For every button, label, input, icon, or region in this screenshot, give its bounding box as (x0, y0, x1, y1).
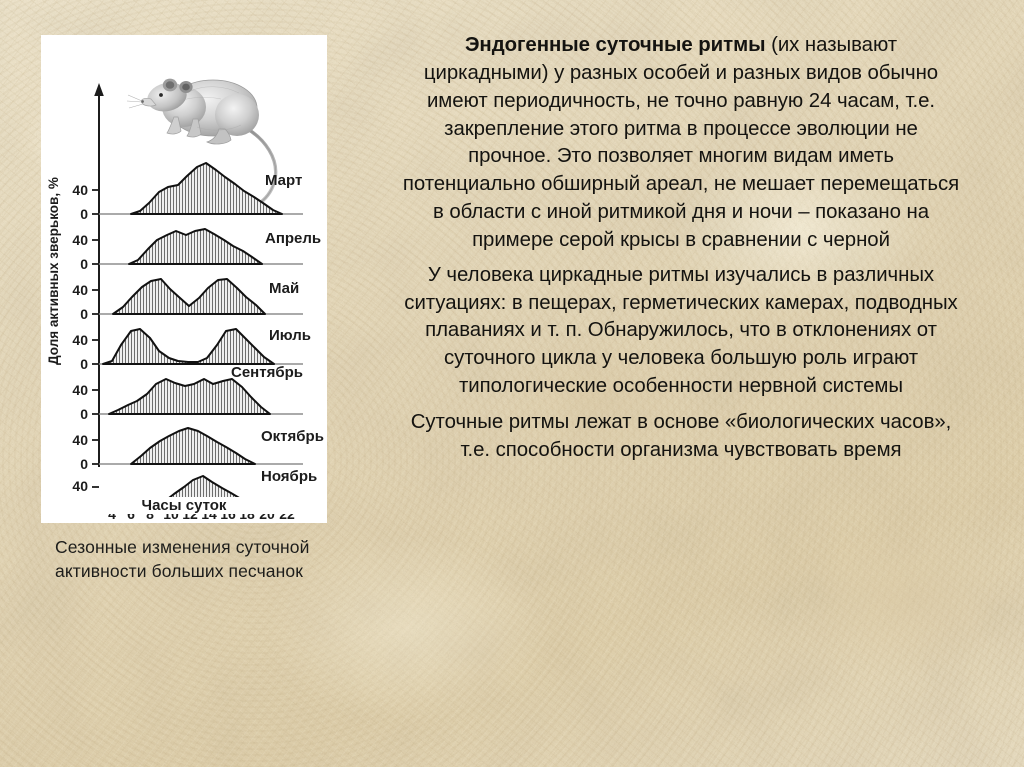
body-text: Эндогенные суточные ритмы (их называют ц… (344, 32, 1018, 471)
paragraph-3: Суточные ритмы лежат в основе «биологиче… (344, 409, 1018, 465)
y-tick-0-september: 0 (80, 406, 88, 422)
paragraph-1-line-6: потенциально обширный ареал, не мешает п… (344, 171, 1018, 199)
paragraph-1-line-5: прочное. Это позволяет многим видам имет… (344, 143, 1018, 171)
paragraph-2-line-2: ситуациях: в пещерах, герметических каме… (344, 290, 1018, 318)
paragraph-3-line-1: Суточные ритмы лежат в основе «биологиче… (344, 409, 1018, 437)
x-axis-title: Часы суток (41, 497, 327, 514)
series-label-april: Апрель (265, 230, 321, 247)
series-label-september: Сентябрь (231, 364, 303, 381)
series-label-october: Октябрь (261, 428, 324, 445)
series-label-march: Март (265, 172, 302, 189)
y-tick-0-april: 0 (80, 256, 88, 272)
paragraph-2-line-1: У человека циркадные ритмы изучались в р… (344, 262, 1018, 290)
y-tick-40-april: 40 (72, 232, 88, 248)
paragraph-3-line-2: т.е. способности организма чувствовать в… (344, 437, 1018, 465)
y-tick-40-march: 40 (72, 182, 88, 198)
paragraph-1-line-7: в области с иной ритмикой дня и ночи – п… (344, 199, 1018, 227)
paragraph-2: У человека циркадные ритмы изучались в р… (344, 262, 1018, 401)
seasonal-activity-chart: Доля активных зверьков, % 0 40 Март (41, 35, 327, 523)
paragraph-2-line-3: плаваниях и т. п. Обнаружилось, что в от… (344, 317, 1018, 345)
paragraph-2-line-5: типологические особенности нервной систе… (344, 373, 1018, 401)
figure-panel: Доля активных зверьков, % 0 40 Март (41, 35, 327, 523)
y-tick-0-october: 0 (80, 456, 88, 472)
paragraph-1-line-4: закрепление этого ритма в процессе эволю… (344, 116, 1018, 144)
paragraph-1-line-8: примере серой крысы в сравнении с черной (344, 227, 1018, 255)
series-label-november: Ноябрь (261, 468, 317, 485)
series-label-july: Июль (269, 327, 311, 344)
y-tick-0-may: 0 (80, 306, 88, 322)
figure-caption-line-1: Сезонные изменения (55, 537, 231, 557)
slide-background: Доля активных зверьков, % 0 40 Март (0, 0, 1024, 767)
y-tick-40-october: 40 (72, 432, 88, 448)
y-tick-40-may: 40 (72, 282, 88, 298)
y-axis-title: Доля активных зверьков, % (46, 177, 61, 365)
y-tick-40-november: 40 (72, 478, 88, 494)
paragraph-1-line-1: Эндогенные суточные ритмы (их называют (344, 32, 1018, 60)
figure-caption-line-3: больших песчанок (152, 561, 303, 581)
lead-phrase: Эндогенные суточные ритмы (465, 34, 766, 56)
y-tick-0-july: 0 (80, 356, 88, 372)
paragraph-1-line-3: имеют периодичность, не точно равную 24 … (344, 88, 1018, 116)
paragraph-2-line-4: суточного цикла у человека большую роль … (344, 345, 1018, 373)
paragraph-1-line-2: циркадными) у разных особей и разных вид… (344, 60, 1018, 88)
paragraph-1-line-1-tail: (их называют (765, 34, 897, 56)
series-label-may: Май (269, 280, 299, 297)
y-tick-40-july: 40 (72, 332, 88, 348)
y-tick-40-september: 40 (72, 382, 88, 398)
paragraph-1: Эндогенные суточные ритмы (их называют ц… (344, 32, 1018, 255)
figure-caption: Сезонные изменения суточной активности б… (55, 535, 325, 583)
y-tick-0-march: 0 (80, 206, 88, 222)
